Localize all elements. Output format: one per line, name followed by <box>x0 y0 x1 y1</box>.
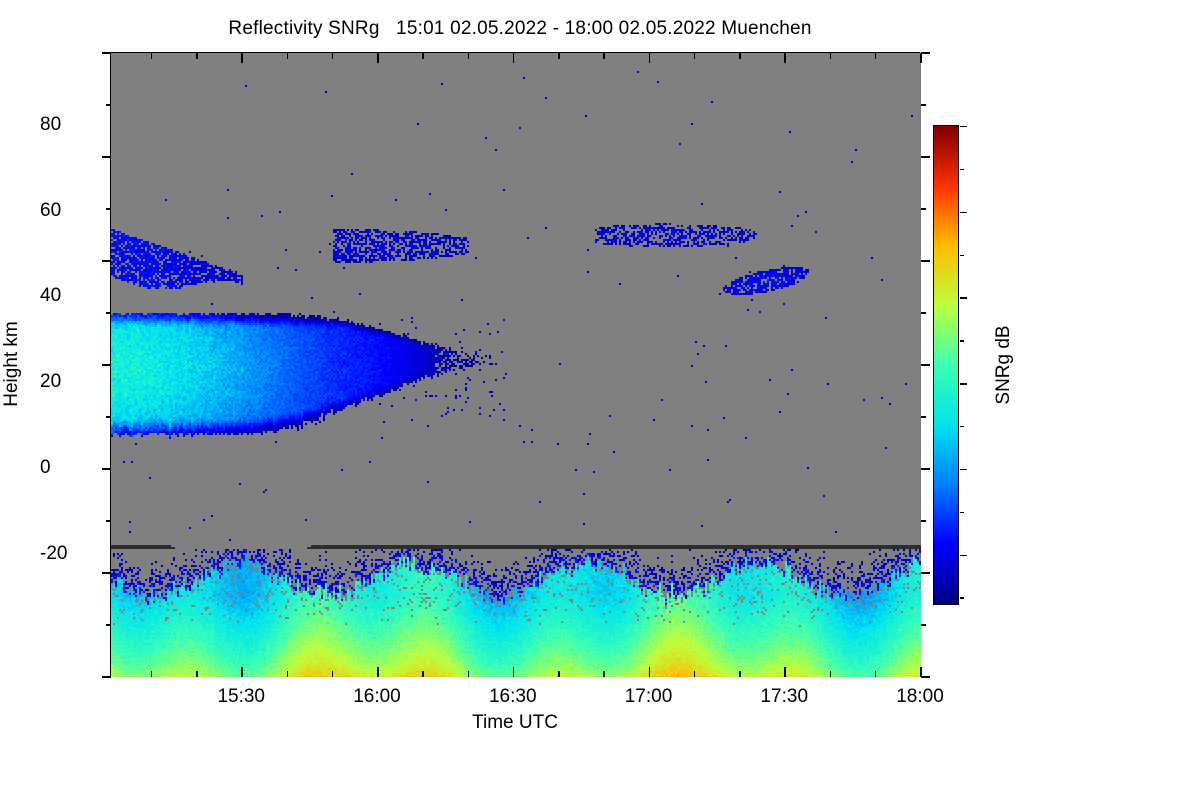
y-axis-tick <box>921 676 930 678</box>
x-axis-minor-tick <box>875 671 877 677</box>
y-axis-tick <box>102 364 111 366</box>
y-axis-tick <box>921 572 930 574</box>
plot-area <box>110 52 920 676</box>
x-axis-tick <box>241 667 243 677</box>
x-axis-minor-tick <box>287 671 289 677</box>
x-axis-minor-tick <box>332 671 334 677</box>
y-axis-minor-tick <box>921 520 926 522</box>
colorbar-tick-label: 40 <box>40 285 61 307</box>
x-axis-minor-tick <box>196 53 198 59</box>
page-title: Reflectivity SNRg 15:01 02.05.2022 - 18:… <box>0 18 1040 40</box>
y-axis-tick <box>102 52 111 54</box>
x-axis-minor-tick <box>422 671 424 677</box>
y-axis-minor-tick <box>106 312 111 314</box>
x-axis-tick <box>241 53 243 63</box>
colorbar-tick <box>960 212 967 213</box>
x-axis-minor-tick <box>151 53 153 59</box>
colorbar-tick-label: 80 <box>40 114 61 136</box>
colorbar-minor-tick <box>960 512 964 513</box>
x-axis-minor-tick <box>422 53 424 59</box>
x-axis-minor-tick <box>875 53 877 59</box>
y-axis-minor-tick <box>106 416 111 418</box>
colorbar-minor-tick <box>960 426 964 427</box>
colorbar-minor-tick <box>960 340 964 341</box>
x-axis-tick <box>513 667 515 677</box>
x-axis-minor-tick <box>468 53 470 59</box>
y-axis-tick <box>102 572 111 574</box>
colorbar-minor-tick <box>960 169 964 170</box>
y-axis-minor-tick <box>921 416 926 418</box>
y-axis-tick <box>921 52 930 54</box>
x-axis-tick <box>784 53 786 63</box>
colorbar-tick <box>960 555 967 556</box>
x-axis-tick <box>784 667 786 677</box>
y-axis-minor-tick <box>106 104 111 106</box>
y-axis-tick <box>102 156 111 158</box>
x-axis-minor-tick <box>739 53 741 59</box>
x-axis-tick-label: 16:30 <box>489 686 537 708</box>
x-axis-minor-tick <box>603 671 605 677</box>
y-axis-title: Height km <box>1 321 23 407</box>
y-axis-minor-tick <box>921 624 926 626</box>
y-axis-minor-tick <box>106 624 111 626</box>
x-axis-minor-tick <box>196 671 198 677</box>
x-axis-minor-tick <box>739 671 741 677</box>
y-axis-minor-tick <box>106 520 111 522</box>
x-axis-minor-tick <box>694 671 696 677</box>
x-axis-minor-tick <box>332 53 334 59</box>
colorbar-title: SNRg dB <box>993 325 1015 404</box>
x-axis-tick-label: 16:00 <box>353 686 401 708</box>
radar-plot-page: Reflectivity SNRg 15:01 02.05.2022 - 18:… <box>0 0 1200 800</box>
colorbar-tick <box>960 469 967 470</box>
x-axis-tick <box>377 53 379 63</box>
x-axis-minor-tick <box>287 53 289 59</box>
x-axis-minor-tick <box>151 671 153 677</box>
x-axis-tick-label: 17:30 <box>760 686 808 708</box>
y-axis-tick <box>102 468 111 470</box>
x-axis-title: Time UTC <box>472 712 558 734</box>
x-axis-minor-tick <box>558 671 560 677</box>
y-axis-tick <box>921 260 930 262</box>
colorbar-tick <box>960 126 967 127</box>
x-axis-tick-label: 18:00 <box>896 686 944 708</box>
colorbar-tick <box>960 383 967 384</box>
x-axis-tick <box>649 667 651 677</box>
colorbar-tick-label: 60 <box>40 200 61 222</box>
colorbar-tick-label: -20 <box>40 543 67 565</box>
x-axis-tick <box>920 667 922 677</box>
colorbar-tick <box>960 297 967 298</box>
colorbar-gradient <box>934 126 958 604</box>
x-axis-minor-tick <box>830 53 832 59</box>
x-axis-tick <box>920 53 922 63</box>
x-axis-minor-tick <box>830 671 832 677</box>
y-axis-minor-tick <box>921 104 926 106</box>
y-axis-minor-tick <box>921 312 926 314</box>
x-axis-tick <box>649 53 651 63</box>
x-axis-minor-tick <box>468 671 470 677</box>
x-axis-minor-tick <box>558 53 560 59</box>
reflectivity-heatmap <box>111 53 921 677</box>
y-axis-tick <box>102 260 111 262</box>
y-axis-tick <box>921 156 930 158</box>
colorbar-minor-tick <box>960 255 964 256</box>
x-axis-minor-tick <box>603 53 605 59</box>
x-axis-minor-tick <box>694 53 696 59</box>
colorbar <box>933 125 959 605</box>
y-axis-tick <box>921 364 930 366</box>
y-axis-minor-tick <box>921 208 926 210</box>
y-axis-tick <box>921 468 930 470</box>
colorbar-tick-label: 20 <box>40 371 61 393</box>
x-axis-tick-label: 17:00 <box>625 686 673 708</box>
y-axis-minor-tick <box>106 208 111 210</box>
x-axis-tick <box>513 53 515 63</box>
colorbar-tick-label: 0 <box>40 457 51 479</box>
y-axis-tick <box>102 676 111 678</box>
x-axis-tick-label: 15:30 <box>217 686 265 708</box>
x-axis-tick <box>377 667 379 677</box>
colorbar-minor-tick <box>960 597 964 598</box>
